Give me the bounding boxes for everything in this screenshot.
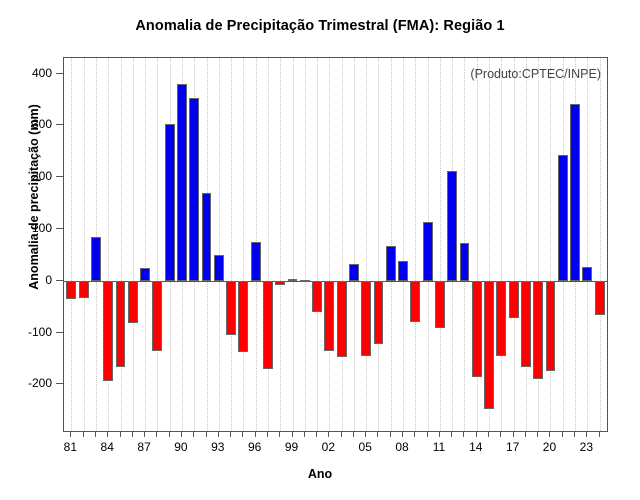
y-tick-label: 400 (12, 66, 52, 80)
gridline (378, 58, 379, 431)
bar (140, 268, 150, 280)
bar (398, 261, 408, 281)
bar (91, 237, 101, 281)
gridline (280, 58, 281, 431)
bar (152, 281, 162, 351)
bar (79, 281, 89, 298)
y-tick-mark (56, 73, 63, 74)
bar (263, 281, 273, 370)
bar (349, 264, 359, 281)
bar (103, 281, 113, 382)
x-tick-label: 02 (308, 440, 348, 454)
gridline (354, 58, 355, 431)
x-tick-label: 90 (161, 440, 201, 454)
bar (312, 281, 322, 313)
y-tick-label: 0 (12, 273, 52, 287)
bar (521, 281, 531, 367)
bar (533, 281, 543, 379)
gridline (329, 58, 330, 431)
gridline (501, 58, 502, 431)
gridline (600, 58, 601, 431)
gridline (145, 58, 146, 431)
bar (460, 243, 470, 281)
bar (496, 281, 506, 356)
bar (226, 281, 236, 335)
x-tick-label: 14 (456, 440, 496, 454)
plot-area: (Produto:CPTEC/INPE) (63, 57, 608, 432)
x-tick-label: 84 (87, 440, 127, 454)
bar (447, 171, 457, 280)
bar (202, 193, 212, 281)
x-tick-label: 87 (124, 440, 164, 454)
bar (275, 281, 285, 286)
gridline (366, 58, 367, 431)
bar (251, 242, 261, 281)
bar (189, 98, 199, 281)
y-tick-mark (56, 228, 63, 229)
bar (582, 267, 592, 281)
bar (324, 281, 334, 351)
bar (337, 281, 347, 357)
x-axis-label: Ano (0, 467, 640, 481)
bar (374, 281, 384, 344)
x-tick-label: 11 (419, 440, 459, 454)
y-tick-label: 100 (12, 221, 52, 235)
bar (423, 222, 433, 281)
gridline (231, 58, 232, 431)
y-tick-mark (56, 332, 63, 333)
source-annotation: (Produto:CPTEC/INPE) (470, 67, 601, 81)
gridline (219, 58, 220, 431)
gridline (514, 58, 515, 431)
gridline (403, 58, 404, 431)
gridline (157, 58, 158, 431)
gridline (268, 58, 269, 431)
bar (128, 281, 138, 323)
chart-title: Anomalia de Precipitação Trimestral (FMA… (0, 18, 640, 34)
gridline (305, 58, 306, 431)
gridline (587, 58, 588, 431)
x-tick-label: 96 (235, 440, 275, 454)
bar (472, 281, 482, 377)
bar (238, 281, 248, 352)
bar (116, 281, 126, 367)
bar (177, 84, 187, 281)
bar (288, 279, 298, 281)
gridline (391, 58, 392, 431)
gridline (317, 58, 318, 431)
bar (386, 246, 396, 281)
y-tick-mark (56, 280, 63, 281)
gridline (133, 58, 134, 431)
bar (484, 281, 494, 409)
y-tick-label: -100 (12, 325, 52, 339)
gridline (84, 58, 85, 431)
gridline (293, 58, 294, 431)
x-tick-label: 93 (198, 440, 238, 454)
y-tick-mark (56, 176, 63, 177)
gridline (440, 58, 441, 431)
bar (165, 124, 175, 281)
bar (214, 255, 224, 280)
gridline (342, 58, 343, 431)
x-tick-label: 23 (566, 440, 606, 454)
bar (595, 281, 605, 316)
x-tick-label: 20 (529, 440, 569, 454)
x-tick-label: 17 (493, 440, 533, 454)
gridline (243, 58, 244, 431)
x-tick-label: 99 (272, 440, 312, 454)
x-tick-label: 08 (382, 440, 422, 454)
bar (509, 281, 519, 318)
gridline (71, 58, 72, 431)
x-tick-label: 81 (50, 440, 90, 454)
bar (435, 281, 445, 329)
x-tick-label: 05 (345, 440, 385, 454)
y-tick-mark (56, 124, 63, 125)
gridline (415, 58, 416, 431)
y-tick-label: 300 (12, 117, 52, 131)
y-axis-label: Anomalia de precipitação (mm) (27, 67, 41, 327)
bar (66, 281, 76, 299)
bar (570, 104, 580, 281)
bar (546, 281, 556, 372)
y-tick-label: 200 (12, 169, 52, 183)
bar (558, 155, 568, 280)
bar (300, 280, 310, 282)
gridline (550, 58, 551, 431)
bar (410, 281, 420, 322)
y-tick-mark (56, 383, 63, 384)
gridline (121, 58, 122, 431)
y-tick-label: -200 (12, 376, 52, 390)
bar (361, 281, 371, 356)
gridline (526, 58, 527, 431)
chart-figure: Anomalia de Precipitação Trimestral (FMA… (0, 0, 640, 500)
